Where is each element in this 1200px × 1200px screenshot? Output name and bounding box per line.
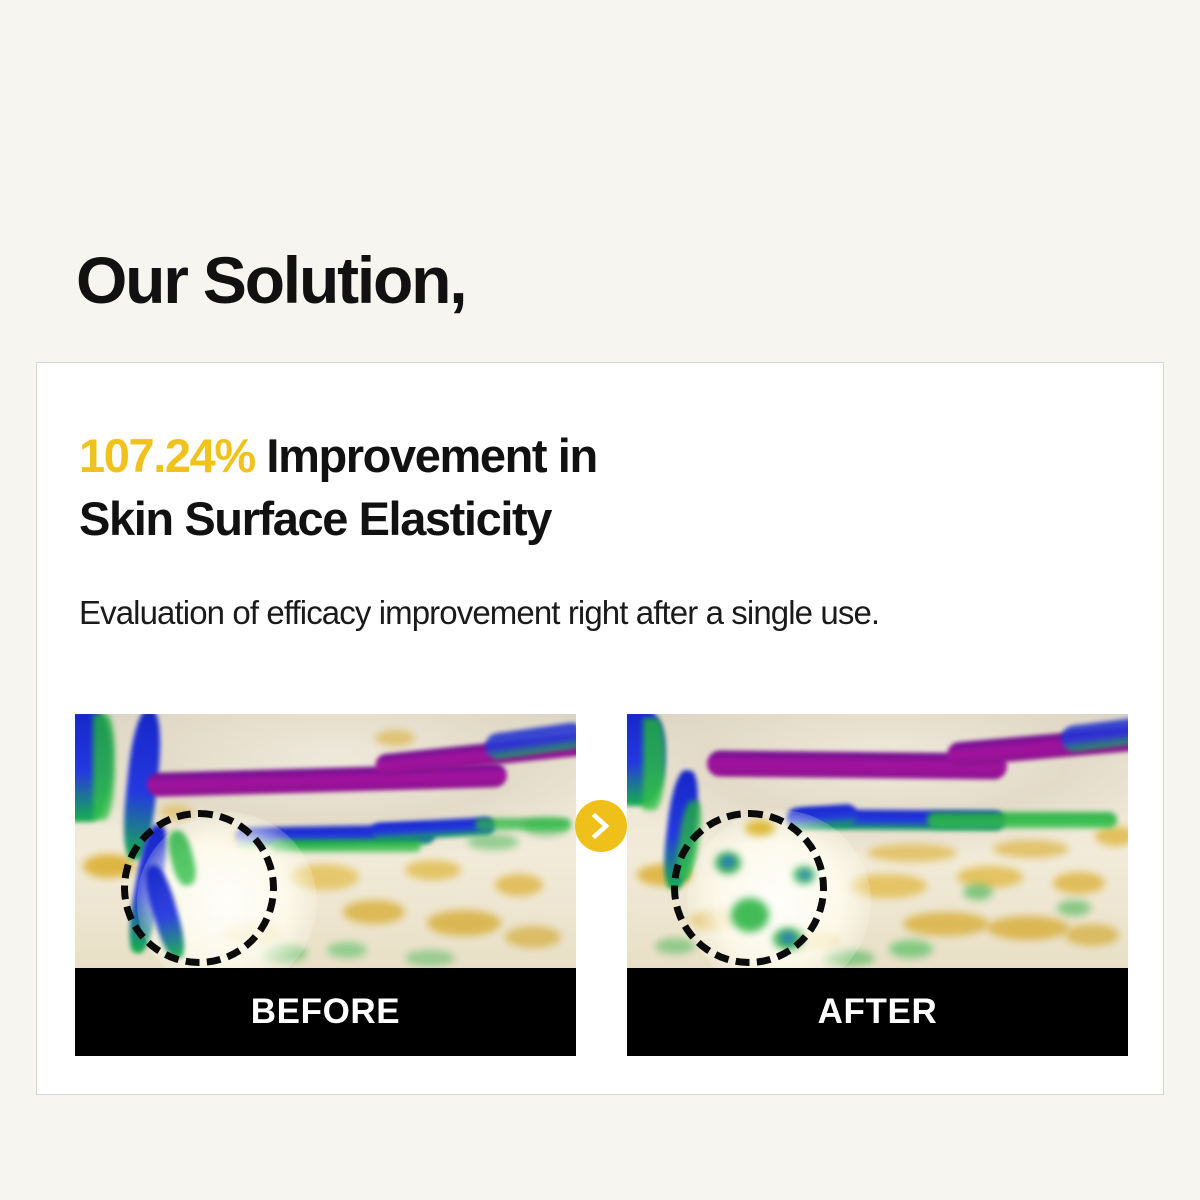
panel-after[interactable]: AFTER [627,714,1128,1056]
stat-heading-line2: Skin Surface Elasticity [79,492,551,545]
before-after-comparison: BEFORE [75,714,1128,1056]
page-root: Our Solution, for [ SAGGING ] Skin 107.2… [0,0,1200,1200]
dashed-circle-highlight-before [121,810,277,966]
stat-heading: 107.24% Improvement in Skin Surface Elas… [79,425,1099,550]
stat-description: Evaluation of efficacy improvement right… [79,591,879,636]
headline-line-1: Our Solution, [76,243,688,318]
panel-before[interactable]: BEFORE [75,714,576,1056]
chevron-right-icon[interactable] [575,800,627,852]
stat-value: 107.24% [79,429,255,482]
dashed-circle-highlight-after [671,810,827,966]
panel-label-before: BEFORE [75,968,576,1056]
skin-scan-image-before [75,714,576,968]
skin-scan-image-after [627,714,1128,968]
panel-label-after: AFTER [627,968,1128,1056]
stat-heading-rest: Improvement in [255,429,597,482]
efficacy-card: 107.24% Improvement in Skin Surface Elas… [36,362,1164,1095]
